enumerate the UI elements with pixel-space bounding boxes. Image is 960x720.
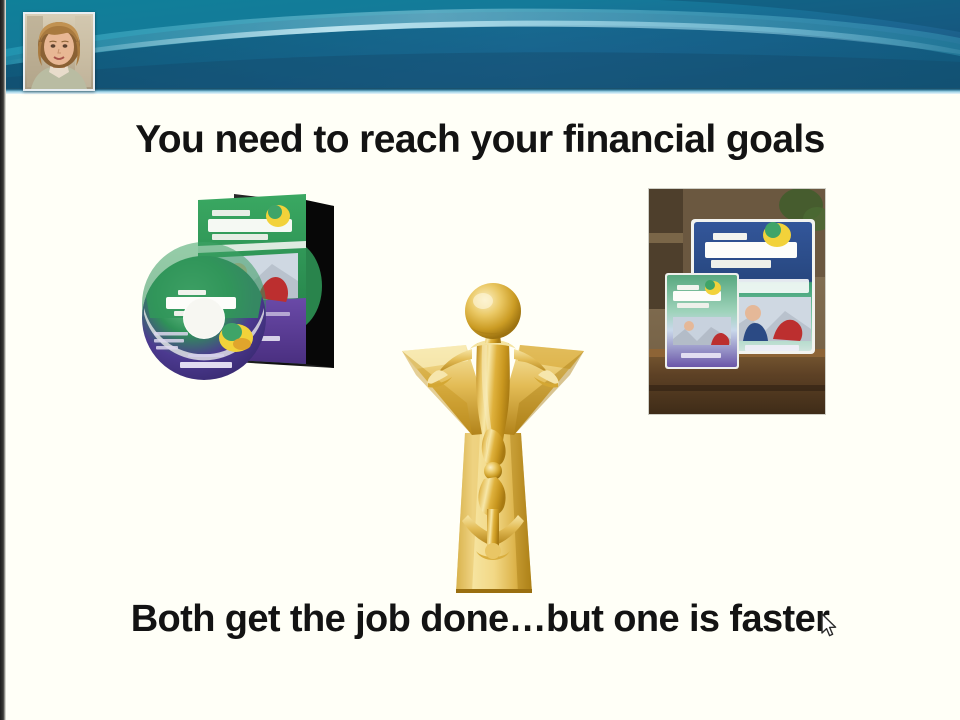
financial-planning-course-photo — [649, 189, 825, 414]
avatar — [23, 12, 95, 91]
product-dvd-image — [138, 186, 346, 398]
dvd-case-and-disc — [138, 186, 346, 398]
slide-caption: Both get the job done…but one is faster — [0, 598, 960, 641]
banner-edge-highlight — [0, 88, 960, 94]
presenter-photo — [25, 14, 93, 89]
banner-wave-decoration — [0, 0, 960, 94]
page-title: You need to reach your financial goals — [0, 118, 960, 162]
slide-canvas: You need to reach your financial goals — [0, 0, 960, 720]
presenter-banner — [0, 0, 960, 94]
award-statue-graphic — [372, 283, 614, 601]
product-course-photo — [648, 188, 826, 415]
golden-figure-statue — [372, 283, 614, 601]
